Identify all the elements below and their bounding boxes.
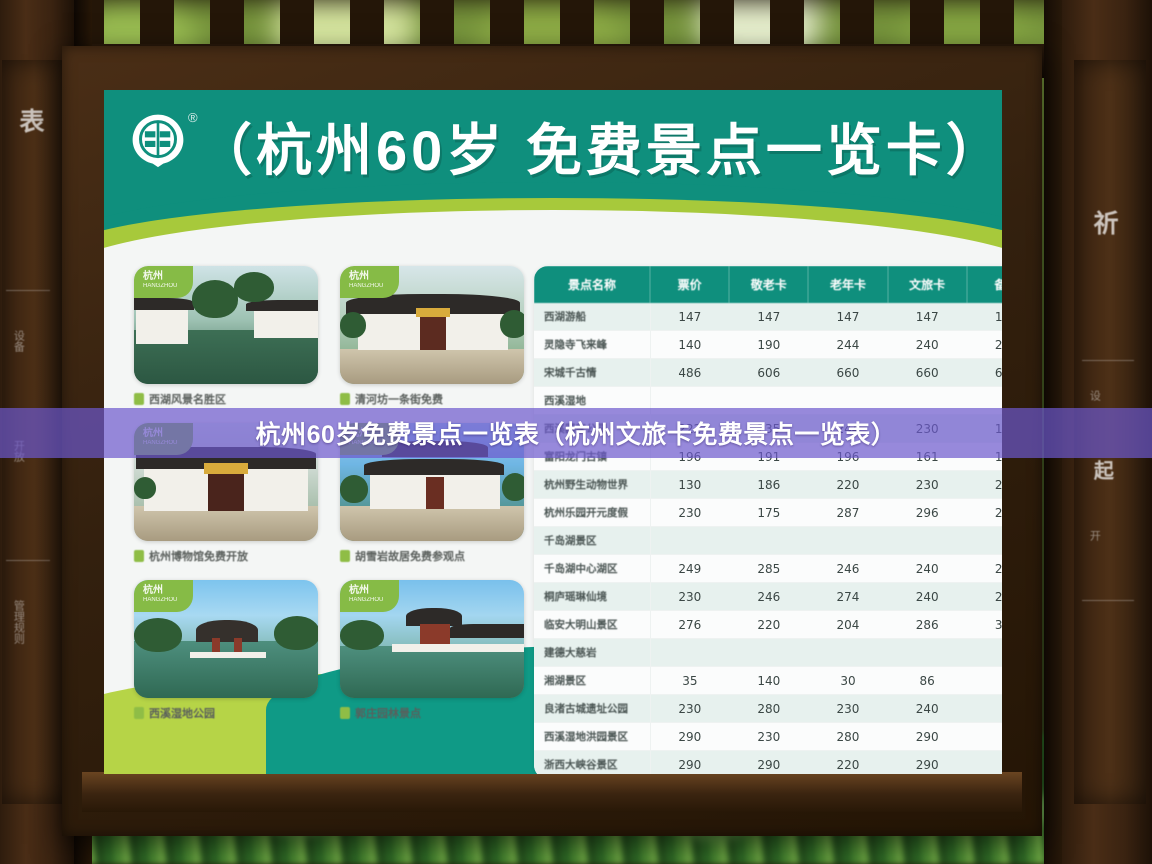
table-cell: 296: [888, 499, 967, 527]
photo-caption: 清河坊一条街免费: [340, 391, 524, 407]
table-cell: 230: [808, 695, 887, 723]
table-cell: [967, 527, 1002, 555]
table-cell: 276: [650, 611, 729, 639]
table-cell: [729, 527, 808, 555]
table-row-label: 西溪湿地洪园景区: [534, 723, 650, 751]
table-row: 桐庐瑶琳仙境230246274240225: [534, 583, 1002, 611]
table-row-label: 西湖游船: [534, 303, 650, 331]
table-row: 临安大明山景区276220204286326: [534, 611, 1002, 639]
table-cell: 149: [967, 303, 1002, 331]
table-cell: 147: [808, 303, 887, 331]
table-cell: 230: [650, 695, 729, 723]
right-board-small-text-2: 起: [1090, 460, 1112, 480]
table-body: 西湖游船147147147147149灵隐寺飞来峰140190244240240…: [534, 303, 1002, 774]
table-row-label: 浙西大峡谷景区: [534, 751, 650, 775]
table-row-label: 临安大明山景区: [534, 611, 650, 639]
overlay-caption-band: 杭州60岁免费景点一览表（杭州文旅卡免费景点一览表）: [0, 408, 1152, 458]
table-row-label: 良渚古城遗址公园: [534, 695, 650, 723]
table-cell: 486: [650, 359, 729, 387]
table-cell: [888, 639, 967, 667]
right-board-small-text-3: 开: [1088, 530, 1100, 541]
table-cell: 606: [729, 359, 808, 387]
photo-row: 杭州 HANGZHOU 西溪湿地公园: [134, 580, 524, 721]
left-board-divider-2: [6, 560, 50, 561]
table-row-label: 杭州乐园开元度假: [534, 499, 650, 527]
table-cell: [967, 723, 1002, 751]
table-cell: 220: [729, 611, 808, 639]
table-cell: [967, 639, 1002, 667]
right-board-divider: [1082, 360, 1134, 361]
table-header-cell: 老年卡: [808, 266, 887, 303]
table-cell: 230: [650, 583, 729, 611]
table-cell: [808, 639, 887, 667]
table-cell: 230: [729, 723, 808, 751]
table-cell: 240: [967, 331, 1002, 359]
table-head: 景点名称 票价 敬老卡 老年卡 文旅卡 备注: [534, 266, 1002, 303]
table-row-label: 灵隐寺飞来峰: [534, 331, 650, 359]
leaf-bullet-icon: [134, 550, 144, 562]
table-row-label: 千岛湖中心湖区: [534, 555, 650, 583]
photo-thumbnail[interactable]: 杭州 HANGZHOU: [340, 580, 524, 698]
table-cell: 240: [888, 331, 967, 359]
table-cell: 290: [888, 723, 967, 751]
table-cell: 290: [729, 751, 808, 775]
photo-caption: 胡雪岩故居免费参观点: [340, 548, 524, 564]
table-row: 千岛湖中心湖区249285246240246: [534, 555, 1002, 583]
photo-caption: 郭庄园林景点: [340, 705, 524, 721]
table-cell: 190: [729, 331, 808, 359]
table-cell: 240: [888, 555, 967, 583]
table-cell: [650, 527, 729, 555]
table-cell: 246: [808, 555, 887, 583]
signboard-bottom-lip: [82, 772, 1022, 812]
table-cell: 285: [729, 555, 808, 583]
table-cell: 220: [808, 751, 887, 775]
left-board-small-text-3: 管理规则: [12, 600, 24, 644]
table-cell: 290: [650, 751, 729, 775]
table-row: 杭州乐园开元度假230175287296256: [534, 499, 1002, 527]
table-row-label: 桐庐瑶琳仙境: [534, 583, 650, 611]
table-cell: 240: [967, 471, 1002, 499]
globe-grid-logo-icon: [130, 112, 186, 168]
table-cell: [808, 527, 887, 555]
table-cell: [967, 751, 1002, 775]
table-cell: 220: [808, 471, 887, 499]
photo-row: 杭州 HANGZHOU 西湖风景名胜区: [134, 266, 524, 407]
table-row-label: 建德大慈岩: [534, 639, 650, 667]
leaf-bullet-icon: [340, 707, 350, 719]
table-row-label: 千岛湖景区: [534, 527, 650, 555]
table-cell: [967, 667, 1002, 695]
table-cell: 290: [650, 723, 729, 751]
table-cell: 240: [888, 583, 967, 611]
table-cell: 274: [808, 583, 887, 611]
table-header-cell: 文旅卡: [888, 266, 967, 303]
leaf-bullet-icon: [134, 707, 144, 719]
table-cell: 230: [888, 471, 967, 499]
table-header-cell: 票价: [650, 266, 729, 303]
table-cell: 280: [808, 723, 887, 751]
table-cell: 230: [650, 499, 729, 527]
table-header-cell: 敬老卡: [729, 266, 808, 303]
table-cell: 140: [650, 331, 729, 359]
photo-card[interactable]: 杭州 HANGZHOU 西溪湿地公园: [134, 580, 318, 721]
table-cell: 256: [967, 499, 1002, 527]
photo-tag: 杭州 HANGZHOU: [340, 580, 399, 612]
table-row: 浙西大峡谷景区290290220290: [534, 751, 1002, 775]
table-cell: [650, 639, 729, 667]
table-cell: 683: [967, 359, 1002, 387]
table-cell: 326: [967, 611, 1002, 639]
photo-tag: 杭州 HANGZHOU: [134, 266, 193, 298]
screenshot-stage: 表 设备 开放 管理规则 祈 设 起 开: [0, 0, 1152, 864]
leaf-bullet-icon: [340, 393, 350, 405]
table-cell: 240: [888, 695, 967, 723]
table-cell: 249: [650, 555, 729, 583]
right-board-small-text-1: 设: [1088, 390, 1100, 401]
table-row-label: 湘湖景区: [534, 667, 650, 695]
photo-gallery: 杭州 HANGZHOU 西湖风景名胜区: [134, 266, 524, 737]
table-header-row: 景点名称 票价 敬老卡 老年卡 文旅卡 备注: [534, 266, 1002, 303]
poster-title: （杭州60岁 免费景点一览卡）: [196, 106, 1002, 187]
price-table: 景点名称 票价 敬老卡 老年卡 文旅卡 备注 西湖游船1471471471471…: [534, 266, 1002, 774]
table-cell: 35: [650, 667, 729, 695]
photo-card[interactable]: 杭州 HANGZHOU 清河坊一条街免费: [340, 266, 524, 407]
photo-thumbnail[interactable]: 杭州 HANGZHOU: [134, 266, 318, 384]
table-row: 西溪湿地洪园景区290230280290: [534, 723, 1002, 751]
table-cell: 246: [729, 583, 808, 611]
table-cell: 246: [967, 555, 1002, 583]
table-row: 灵隐寺飞来峰140190244240240: [534, 331, 1002, 359]
photo-thumbnail[interactable]: 杭州 HANGZHOU: [340, 266, 524, 384]
table-cell: 175: [729, 499, 808, 527]
right-board-divider-2: [1082, 600, 1134, 601]
table-cell: [888, 527, 967, 555]
table-row: 杭州野生动物世界130186220230240: [534, 471, 1002, 499]
table-row: 良渚古城遗址公园230280230240: [534, 695, 1002, 723]
table-cell: 287: [808, 499, 887, 527]
table-cell: 660: [808, 359, 887, 387]
table-cell: 147: [888, 303, 967, 331]
table-cell: 30: [808, 667, 887, 695]
overlay-caption-text: 杭州60岁免费景点一览表（杭州文旅卡免费景点一览表）: [256, 415, 897, 451]
photo-tag: 杭州 HANGZHOU: [134, 580, 193, 612]
table-cell: [967, 695, 1002, 723]
table-row: 西湖游船147147147147149: [534, 303, 1002, 331]
table-cell: 280: [729, 695, 808, 723]
table-cell: 244: [808, 331, 887, 359]
leaf-bullet-icon: [134, 393, 144, 405]
table-cell: 140: [729, 667, 808, 695]
table-cell: 225: [967, 583, 1002, 611]
photo-caption: 西湖风景名胜区: [134, 391, 318, 407]
table-cell: 660: [888, 359, 967, 387]
table-cell: 204: [808, 611, 887, 639]
table-cell: 290: [888, 751, 967, 775]
table-cell: 86: [888, 667, 967, 695]
table-row: 千岛湖景区: [534, 527, 1002, 555]
price-table-container: 景点名称 票价 敬老卡 老年卡 文旅卡 备注 西湖游船1471471471471…: [534, 266, 1002, 774]
table-row: 建德大慈岩: [534, 639, 1002, 667]
left-board-small-text-1: 设备: [12, 330, 24, 352]
photo-caption: 西溪湿地公园: [134, 705, 318, 721]
table-cell: 147: [729, 303, 808, 331]
photo-card[interactable]: 杭州 HANGZHOU 西湖风景名胜区: [134, 266, 318, 407]
table-cell: [729, 639, 808, 667]
table-cell: 286: [888, 611, 967, 639]
table-header-cell: 景点名称: [534, 266, 650, 303]
table-row: 湘湖景区351403086: [534, 667, 1002, 695]
table-row: 宋城千古情486606660660683: [534, 359, 1002, 387]
table-row-label: 宋城千古情: [534, 359, 650, 387]
table-cell: 147: [650, 303, 729, 331]
right-board-ghost-text: 祈: [1090, 210, 1118, 235]
photo-tag: 杭州 HANGZHOU: [340, 266, 399, 298]
photo-card[interactable]: 杭州 HANGZHOU 郭庄园林景点: [340, 580, 524, 721]
photo-thumbnail[interactable]: 杭州 HANGZHOU: [134, 580, 318, 698]
table-cell: 130: [650, 471, 729, 499]
photo-caption: 杭州博物馆免费开放: [134, 548, 318, 564]
table-cell: 186: [729, 471, 808, 499]
leaf-bullet-icon: [340, 550, 350, 562]
table-header-cell: 备注: [967, 266, 1002, 303]
table-row-label: 杭州野生动物世界: [534, 471, 650, 499]
left-board-divider: [6, 290, 50, 291]
left-board-ghost-text: 表: [16, 108, 44, 133]
